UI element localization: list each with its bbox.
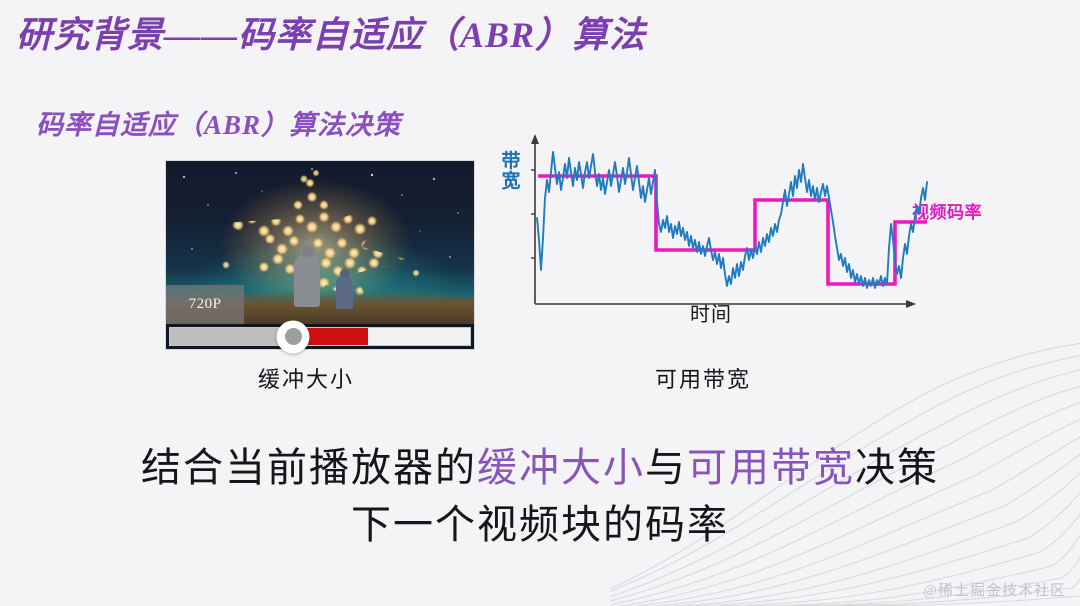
conclusion-part-3: 决策: [855, 445, 939, 490]
conclusion-part-1: 结合当前播放器的: [141, 445, 477, 490]
conclusion-text: 结合当前播放器的缓冲大小与可用带宽决策 下一个视频块的码率: [0, 440, 1080, 554]
progress-played-segment: [170, 328, 293, 345]
caption-buffer-size: 缓冲大小: [258, 362, 354, 394]
y-axis-arrow: [531, 134, 539, 144]
progress-bar[interactable]: [169, 327, 471, 346]
conclusion-highlight-buffer: 缓冲大小: [477, 445, 645, 490]
section-subtitle: 码率自适应（ABR）算法决策: [36, 103, 401, 142]
silhouette-child: [336, 276, 353, 309]
conclusion-highlight-bandwidth: 可用带宽: [687, 445, 855, 490]
quality-badge[interactable]: 720P: [166, 285, 244, 324]
conclusion-line-2: 下一个视频块的码率: [0, 497, 1080, 554]
series-available-bandwidth: [537, 152, 927, 288]
watermark: @稀土掘金技术社区: [923, 579, 1066, 600]
video-player[interactable]: 720P: [166, 161, 474, 349]
conclusion-part-2: 与: [645, 445, 687, 490]
x-axis-arrow: [906, 300, 916, 308]
page-title: 研究背景——码率自适应（ABR）算法: [16, 6, 646, 58]
bandwidth-bitrate-chart: [490, 128, 930, 318]
silhouette-adult: [294, 254, 320, 307]
caption-available-bandwidth: 可用带宽: [655, 362, 751, 394]
slide-canvas: 研究背景——码率自适应（ABR）算法 码率自适应（ABR）算法决策: [0, 0, 1080, 606]
progress-scrubber-knob[interactable]: [277, 320, 310, 353]
